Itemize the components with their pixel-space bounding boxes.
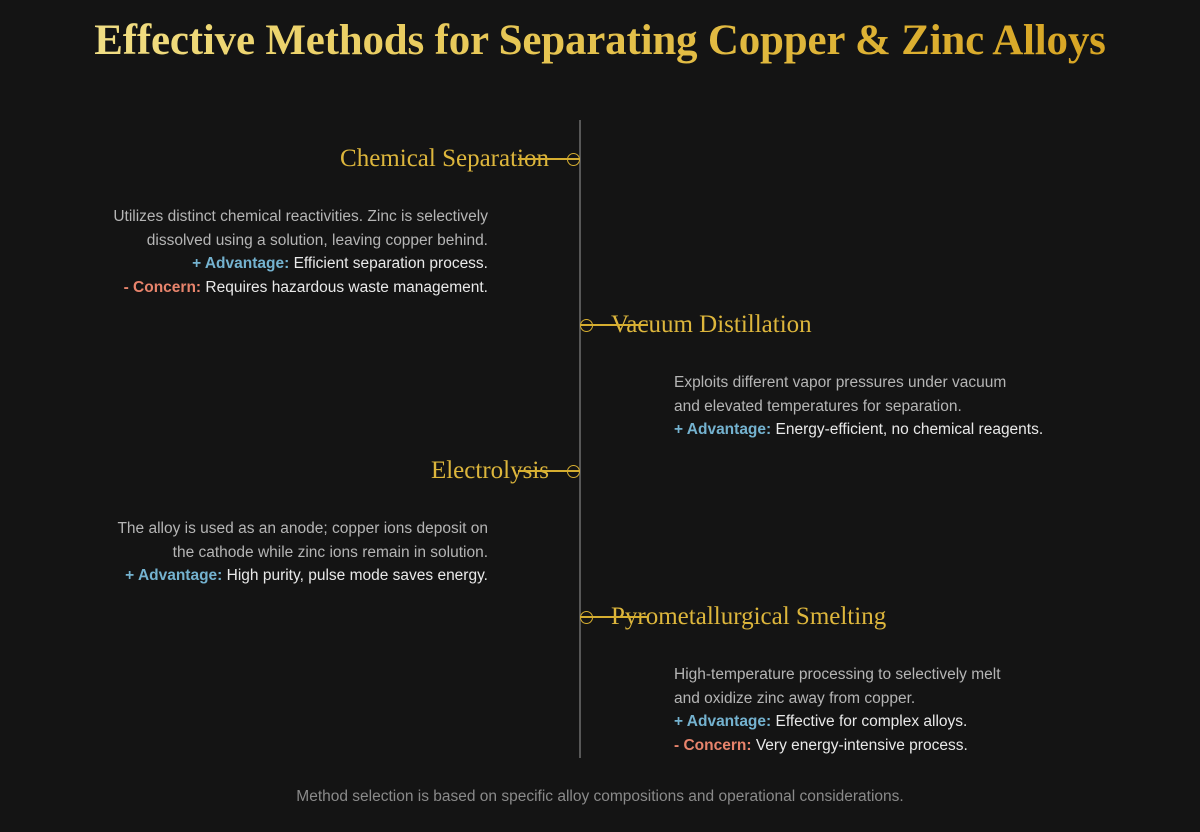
entry-header: Pyrometallurgical Smelting [580,601,1200,633]
advantage-text: High purity, pulse mode saves energy. [227,567,488,584]
timeline-entry[interactable]: Pyrometallurgical SmeltingHigh-temperatu… [580,601,1200,757]
description-line: Utilizes distinct chemical reactivities.… [0,205,488,229]
entry-body: High-temperature processing to selective… [580,663,1200,757]
description-line: the cathode while zinc ions remain in so… [0,541,488,565]
concern-label: - Concern: [674,737,752,754]
connector-line [518,158,580,160]
advantage-text: Effective for complex alloys. [776,713,968,730]
concern-note: - Concern: Very energy-intensive process… [674,734,1200,758]
entry-heading: Pyrometallurgical Smelting [611,601,886,633]
timeline-entry[interactable]: Vacuum DistillationExploits different va… [580,309,1200,442]
concern-text: Requires hazardous waste management. [205,279,488,296]
entry-body: Utilizes distinct chemical reactivities.… [0,205,580,299]
entry-header: Electrolysis [0,455,580,487]
entry-header: Chemical Separation [0,143,580,175]
description-line: Exploits different vapor pressures under… [674,371,1200,395]
description-line: and oxidize zinc away from copper. [674,687,1200,711]
description-line: and elevated temperatures for separation… [674,395,1200,419]
connector-line [580,324,648,326]
advantage-note: + Advantage: Energy-efficient, no chemic… [674,418,1200,442]
infographic-canvas: Effective Methods for Separating Copper … [0,0,1200,832]
concern-label: - Concern: [124,279,202,296]
advantage-note: + Advantage: Effective for complex alloy… [674,710,1200,734]
footer-note: Method selection is based on specific al… [0,788,1200,806]
entry-header: Vacuum Distillation [580,309,1200,341]
page-title: Effective Methods for Separating Copper … [0,16,1200,65]
advantage-note: + Advantage: Efficient separation proces… [0,252,488,276]
concern-note: - Concern: Requires hazardous waste mana… [0,276,488,300]
connector-line [518,470,580,472]
advantage-label: + Advantage: [674,713,771,730]
advantage-note: + Advantage: High purity, pulse mode sav… [0,564,488,588]
concern-text: Very energy-intensive process. [756,737,968,754]
advantage-text: Energy-efficient, no chemical reagents. [776,421,1044,438]
description-line: The alloy is used as an anode; copper io… [0,517,488,541]
entry-body: Exploits different vapor pressures under… [580,371,1200,442]
entry-description: Utilizes distinct chemical reactivities.… [0,205,488,252]
advantage-label: + Advantage: [125,567,222,584]
entry-description: The alloy is used as an anode; copper io… [0,517,488,564]
description-line: dissolved using a solution, leaving copp… [0,229,488,253]
advantage-label: + Advantage: [674,421,771,438]
advantage-label: + Advantage: [192,255,289,272]
entry-body: The alloy is used as an anode; copper io… [0,517,580,588]
description-line: High-temperature processing to selective… [674,663,1200,687]
entry-description: Exploits different vapor pressures under… [674,371,1200,418]
entry-description: High-temperature processing to selective… [674,663,1200,710]
timeline-entry[interactable]: ElectrolysisThe alloy is used as an anod… [0,455,580,588]
timeline-entry[interactable]: Chemical SeparationUtilizes distinct che… [0,143,580,299]
advantage-text: Efficient separation process. [294,255,488,272]
connector-line [580,616,648,618]
